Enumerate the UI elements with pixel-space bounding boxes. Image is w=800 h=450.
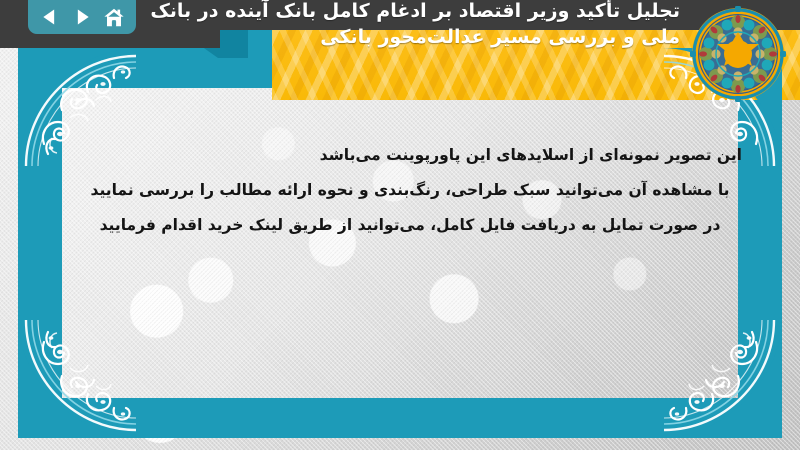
home-button[interactable] xyxy=(101,5,127,29)
page-title-text: تجلیل تأکید وزیر اقتصاد بر ادغام کامل با… xyxy=(150,0,680,48)
previous-button[interactable] xyxy=(37,5,63,29)
triangle-right-icon xyxy=(71,7,93,27)
slide-body-text: این تصویر نمونه‌ای از اسلایدهای این پاور… xyxy=(60,138,760,243)
content-frame-inner xyxy=(62,88,738,398)
page-title: تجلیل تأکید وزیر اقتصاد بر ادغام کامل با… xyxy=(150,0,680,50)
home-icon xyxy=(103,7,125,28)
body-line-3: در صورت تمایل به دریافت فایل کامل، می‌تو… xyxy=(60,208,760,243)
navigation-controls xyxy=(28,0,136,34)
content-frame xyxy=(18,48,782,438)
body-line-1: این تصویر نمونه‌ای از اسلایدهای این پاور… xyxy=(60,138,760,173)
triangle-left-icon xyxy=(39,7,61,27)
next-button[interactable] xyxy=(69,5,95,29)
body-line-2: با مشاهده آن می‌توانید سبک طراحی، رنگ‌بن… xyxy=(60,173,760,208)
persian-medallion-icon xyxy=(690,6,786,102)
slide-canvas: این تصویر نمونه‌ای از اسلایدهای این پاور… xyxy=(0,0,800,450)
